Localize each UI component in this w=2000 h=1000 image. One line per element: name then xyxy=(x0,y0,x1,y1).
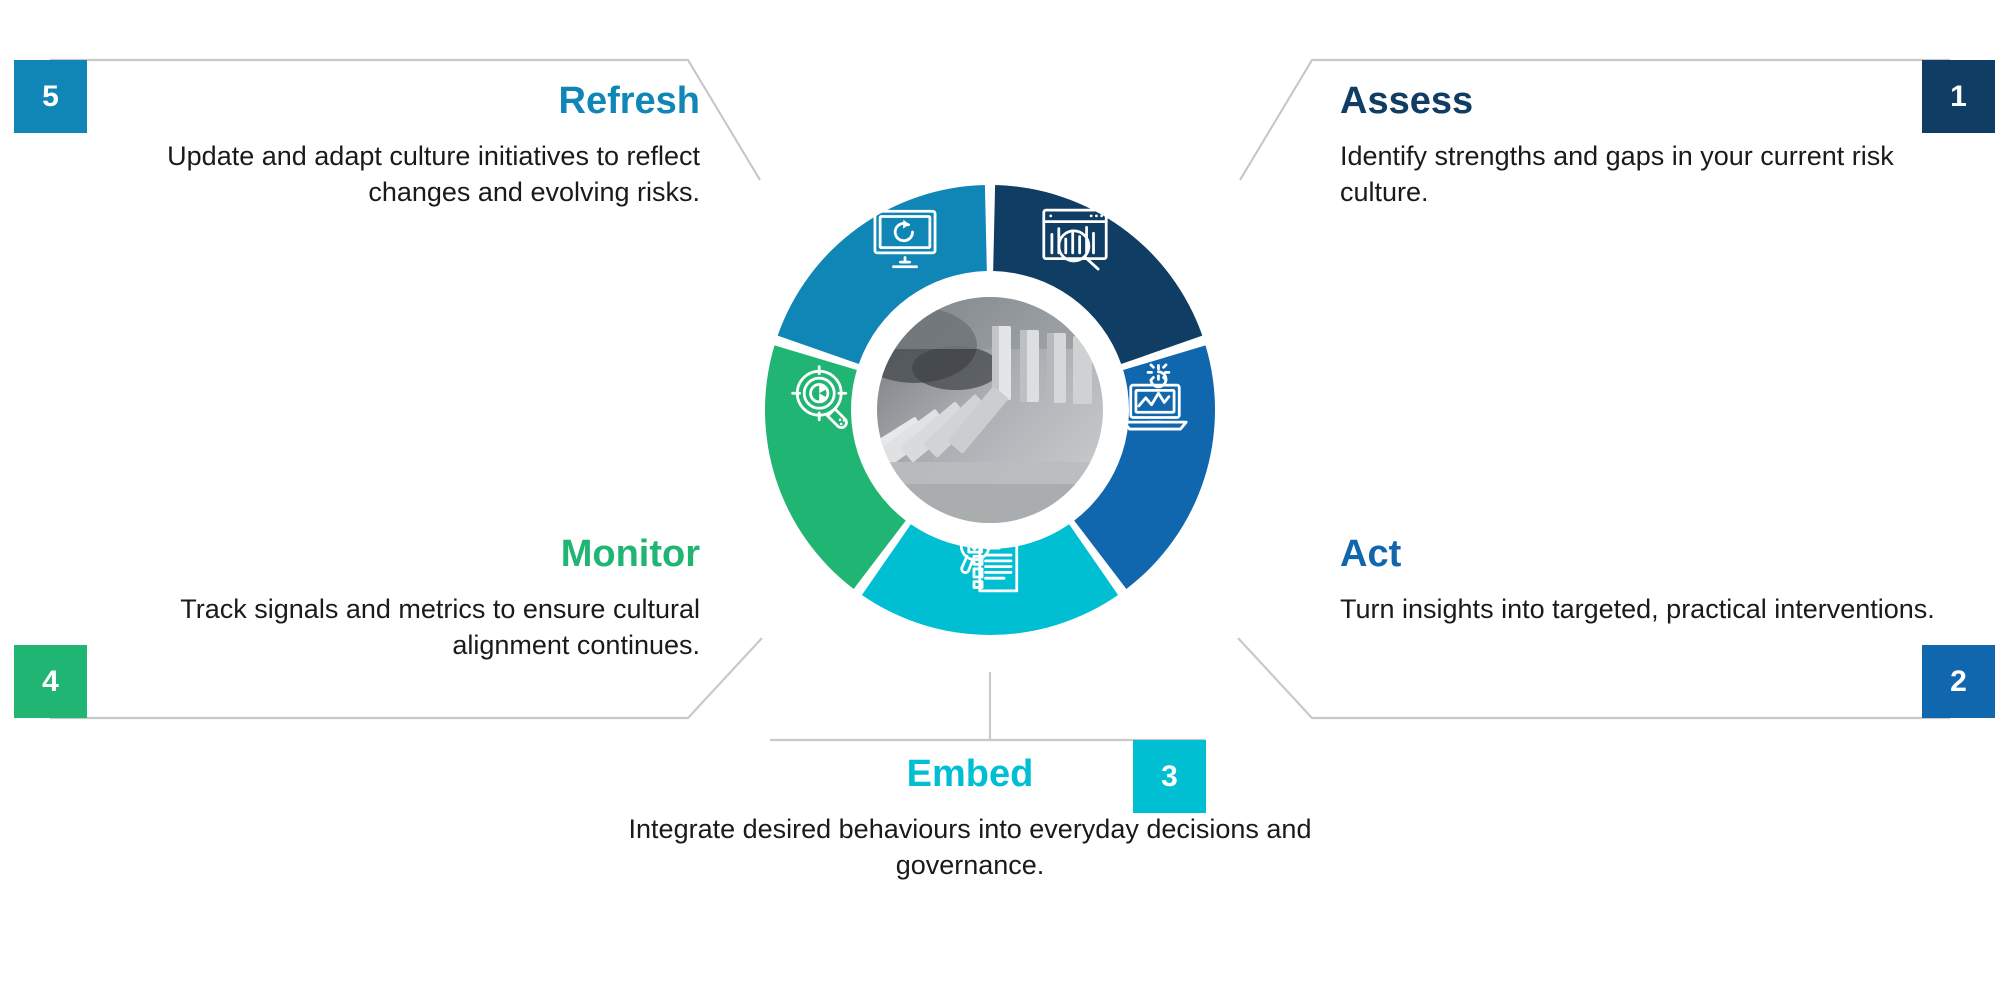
callout-act: Act Turn insights into targeted, practic… xyxy=(1340,535,1960,627)
callout-embed-body: Integrate desired behaviours into everyd… xyxy=(620,811,1320,884)
donut-svg xyxy=(720,140,1260,680)
callout-embed-title: Embed xyxy=(620,755,1320,795)
callout-refresh-body: Update and adapt culture initiatives to … xyxy=(100,138,700,211)
callout-assess: Assess Identify strengths and gaps in yo… xyxy=(1340,82,1960,211)
step-badge-5[interactable]: 5 xyxy=(14,60,87,133)
donut-chart xyxy=(720,140,1260,680)
step-badge-4[interactable]: 4 xyxy=(14,645,87,718)
infographic-canvas: 5 1 4 2 3 Refresh Update and adapt cultu… xyxy=(0,0,2000,1000)
step-badge-4-number: 4 xyxy=(42,667,59,697)
callout-assess-title: Assess xyxy=(1340,82,1960,122)
callout-refresh-title: Refresh xyxy=(100,82,700,122)
callout-act-body: Turn insights into targeted, practical i… xyxy=(1340,591,1960,627)
callout-embed: Embed Integrate desired behaviours into … xyxy=(620,755,1320,884)
step-badge-2-number: 2 xyxy=(1950,667,1967,697)
callout-assess-body: Identify strengths and gaps in your curr… xyxy=(1340,138,1960,211)
segment-embed[interactable] xyxy=(862,524,1118,635)
callout-monitor: Monitor Track signals and metrics to ens… xyxy=(100,535,700,664)
callout-monitor-body: Track signals and metrics to ensure cult… xyxy=(100,591,700,664)
callout-monitor-title: Monitor xyxy=(100,535,700,575)
callout-refresh: Refresh Update and adapt culture initiat… xyxy=(100,82,700,211)
step-badge-2[interactable]: 2 xyxy=(1922,645,1995,718)
callout-act-title: Act xyxy=(1340,535,1960,575)
step-badge-5-number: 5 xyxy=(42,82,59,112)
